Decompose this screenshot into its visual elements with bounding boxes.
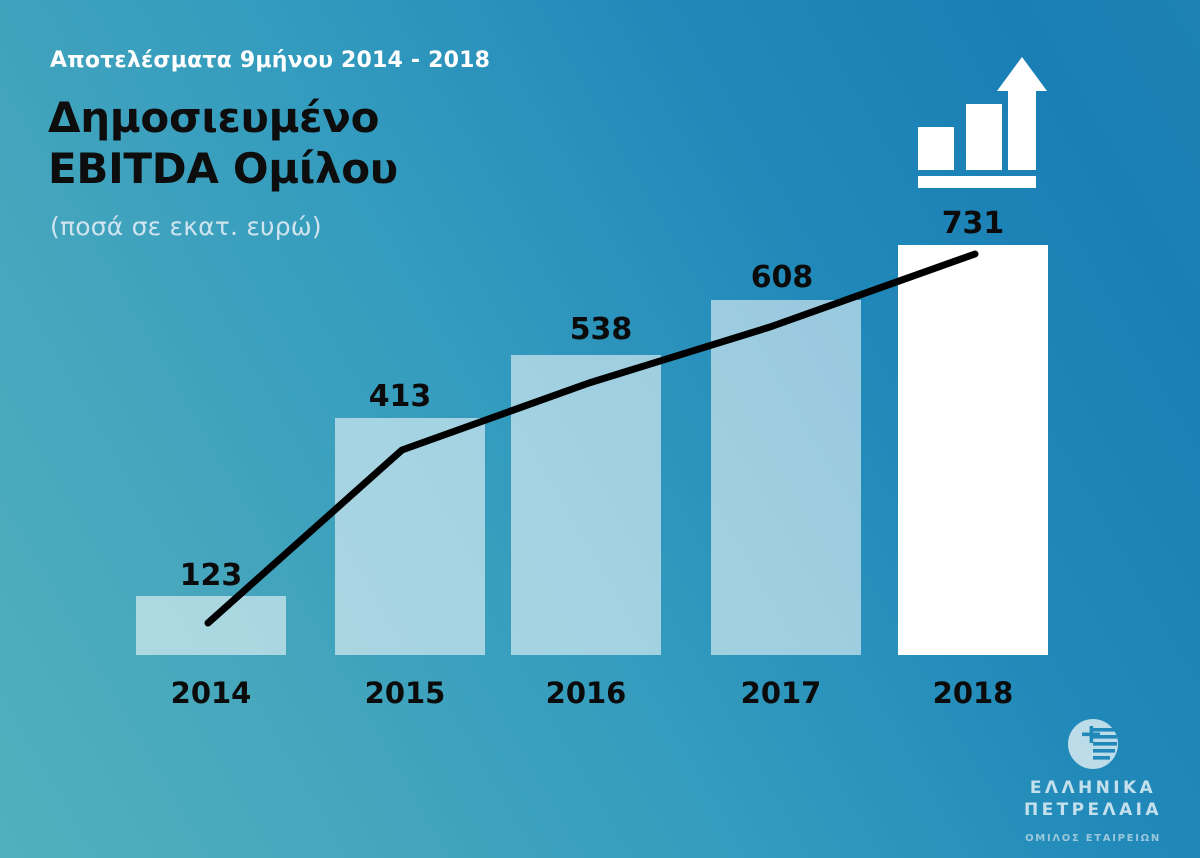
bar-category-2018: 2018 [898, 676, 1048, 710]
bar-value-2018: 731 [898, 206, 1048, 241]
bar-category-2017: 2017 [706, 676, 856, 710]
bar-category-2016: 2016 [511, 676, 661, 710]
infographic-canvas: Αποτελέσματα 9μήνου 2014 - 2018 Δημοσιευ… [0, 0, 1200, 858]
bar-2016 [511, 355, 661, 655]
bar-2014 [136, 596, 286, 655]
hellenic-petroleum-globe-icon [1067, 718, 1119, 770]
company-logo: ΕΛΛΗΝΙΚΑ ΠΕΤΡΕΛΑΙΑ ΟΜΙΛΟΣ ΕΤΑΙΡΕΙΩΝ [1008, 718, 1178, 844]
bar-value-2017: 608 [707, 260, 857, 295]
bar-value-2015: 413 [325, 379, 475, 414]
logo-company-name: ΕΛΛΗΝΙΚΑ ΠΕΤΡΕΛΑΙΑ [1008, 778, 1178, 822]
bar-category-2014: 2014 [136, 676, 286, 710]
bar-2018 [898, 245, 1048, 655]
logo-tagline: ΟΜΙΛΟΣ ΕΤΑΙΡΕΙΩΝ [1008, 833, 1178, 844]
bar-value-2014: 123 [136, 558, 286, 593]
bar-2017 [711, 300, 861, 655]
bar-value-2016: 538 [526, 312, 676, 347]
bar-2015 [335, 418, 485, 655]
bar-category-2015: 2015 [330, 676, 480, 710]
